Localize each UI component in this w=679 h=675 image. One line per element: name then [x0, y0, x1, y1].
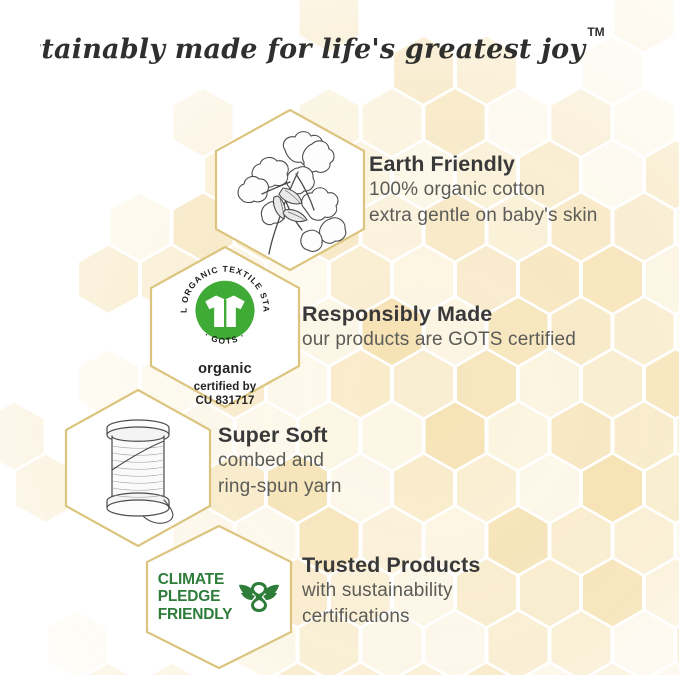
feature-line-super-soft-2: ring-spun yarn [218, 474, 342, 499]
honeycomb-cell [646, 350, 679, 417]
gots-certification-icon: GLOBAL ORGANIC TEXTILE STANDARD · GOTS ·… [149, 245, 301, 409]
honeycomb-cell [426, 403, 485, 470]
honeycomb-cell [646, 141, 679, 208]
honeycomb-cell [615, 403, 674, 470]
honeycomb-cell [520, 350, 579, 417]
honeycomb-cell [615, 507, 674, 574]
honeycomb-cell [489, 612, 548, 675]
headline-script-text: sustainably made for life's greatest joy… [40, 18, 640, 80]
honeycomb-cell [583, 559, 642, 626]
honeycomb-cell [520, 664, 579, 675]
honeycomb-cell [646, 559, 679, 626]
feature-hex-responsibly-made: GLOBAL ORGANIC TEXTILE STANDARD · GOTS ·… [149, 245, 301, 409]
cotton-plant-sketch [226, 124, 354, 256]
honeycomb-cell [615, 89, 674, 156]
honeycomb-cell [583, 664, 642, 675]
cpf-line-1: CLIMATE [158, 571, 232, 588]
gots-caption-organic: organic [198, 361, 252, 377]
feature-line-earth-friendly-1: 100% organic cotton [369, 177, 597, 202]
honeycomb-cell [331, 350, 390, 417]
feature-title-responsibly-made: Responsibly Made [302, 302, 576, 327]
honeycomb-cell [615, 298, 674, 365]
feature-text-super-soft: Super Soft combed and ring-spun yarn [218, 423, 342, 499]
honeycomb-cell [48, 612, 107, 675]
honeycomb-cell [457, 664, 516, 675]
honeycomb-cell [79, 664, 138, 675]
feature-line-earth-friendly-2: extra gentle on baby's skin [369, 203, 597, 228]
honeycomb-cell [583, 455, 642, 522]
honeycomb-cell [489, 89, 548, 156]
honeycomb-cell [489, 403, 548, 470]
feature-text-trusted-products: Trusted Products with sustainability cer… [302, 553, 480, 629]
climate-pledge-friendly-icon: CLIMATE PLEDGE FRIENDLY [145, 524, 293, 670]
page-headline: sustainably made for life's greatest joy… [0, 18, 679, 80]
honeycomb-cell [646, 455, 679, 522]
feature-title-super-soft: Super Soft [218, 423, 342, 448]
honeycomb-cell [552, 507, 611, 574]
trademark-mark: TM [587, 25, 604, 39]
honeycomb-cell [0, 403, 44, 470]
honeycomb-cell [394, 350, 453, 417]
honeycomb-cell [583, 246, 642, 313]
thread-spool-sketch [83, 408, 193, 528]
cpf-line-2: PLEDGE [158, 588, 232, 605]
feature-line-responsibly-made-1: our products are GOTS certified [302, 327, 576, 352]
honeycomb-cell [615, 194, 674, 261]
honeycomb-cell [646, 664, 679, 675]
feature-line-super-soft-1: combed and [218, 448, 342, 473]
honeycomb-cell [646, 246, 679, 313]
honeycomb-cell [363, 89, 422, 156]
honeycomb-cell [583, 350, 642, 417]
honeycomb-cell [394, 664, 453, 675]
headline-text: sustainably made for life's greatest joy [40, 34, 587, 65]
honeycomb-cell [520, 559, 579, 626]
honeycomb-cell [615, 612, 674, 675]
feature-text-responsibly-made: Responsibly Made our products are GOTS c… [302, 302, 576, 353]
honeycomb-cell [331, 664, 390, 675]
honeycomb-cell [394, 455, 453, 522]
honeycomb-cell [520, 455, 579, 522]
cpf-line-3: FRIENDLY [158, 606, 232, 623]
honeycomb-cell [552, 612, 611, 675]
climate-pledge-wordmark: CLIMATE PLEDGE FRIENDLY [158, 571, 232, 623]
honeycomb-cell [363, 403, 422, 470]
honeycomb-cell [552, 89, 611, 156]
honeycomb-cell [426, 89, 485, 156]
feature-title-earth-friendly: Earth Friendly [369, 152, 597, 177]
winged-hourglass-glyph [238, 578, 280, 616]
feature-line-trusted-products-2: certifications [302, 604, 480, 629]
honeycomb-cell [489, 507, 548, 574]
feature-text-earth-friendly: Earth Friendly 100% organic cotton extra… [369, 152, 597, 228]
honeycomb-cell [552, 403, 611, 470]
promo-graphic: sustainably made for life's greatest joy… [0, 0, 679, 675]
feature-title-trusted-products: Trusted Products [302, 553, 480, 578]
feature-line-trusted-products-1: with sustainability [302, 578, 480, 603]
honeycomb-cell [79, 246, 138, 313]
honeycomb-cell [457, 350, 516, 417]
feature-hex-trusted-products: CLIMATE PLEDGE FRIENDLY [145, 524, 293, 670]
gots-seal: GLOBAL ORGANIC TEXTILE STANDARD · GOTS · [177, 263, 273, 358]
honeycomb-cell [457, 455, 516, 522]
